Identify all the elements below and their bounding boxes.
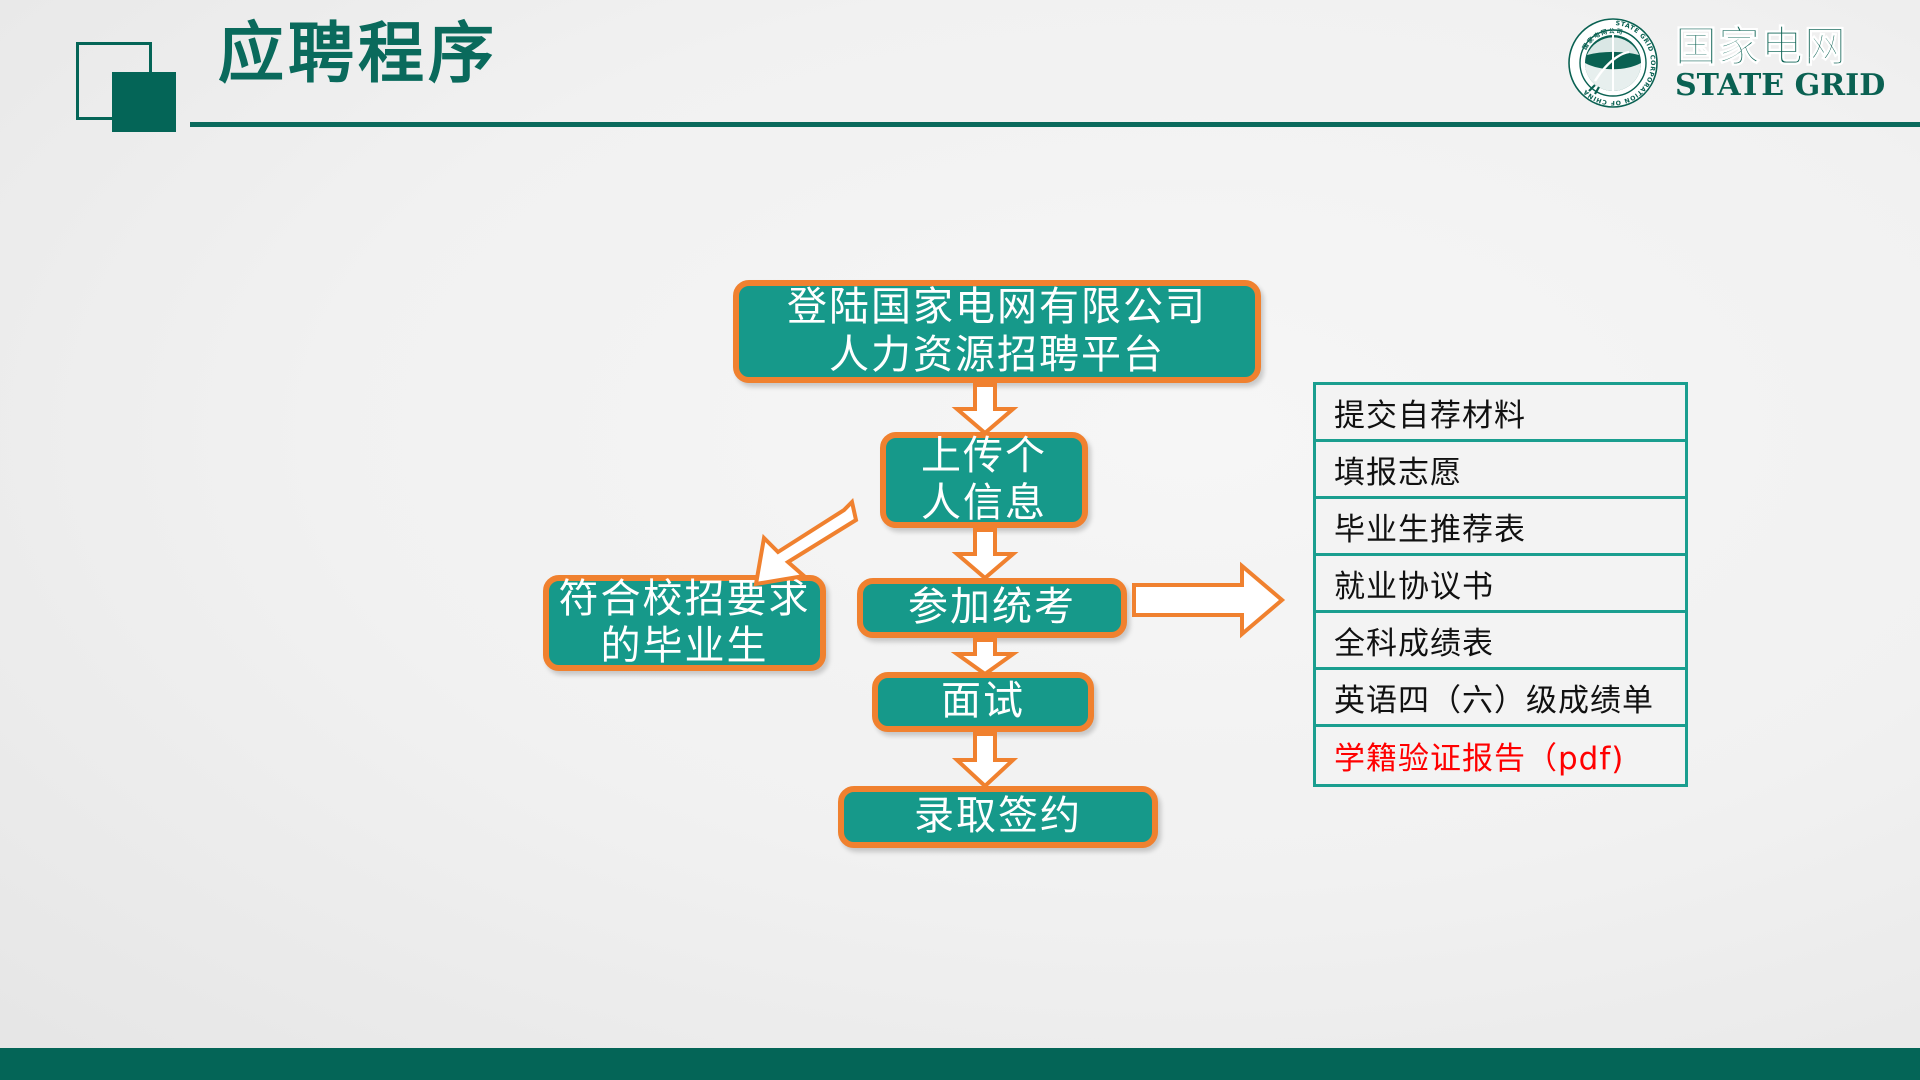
state-grid-wordmark: 国家电网 STATE GRID: [1675, 26, 1885, 101]
arrow-down-icon-2: [953, 528, 1017, 580]
table-row[interactable]: 毕业生推荐表: [1316, 499, 1685, 556]
flow-step-login-platform[interactable]: 登陆国家电网有限公司 人力资源招聘平台: [733, 280, 1261, 383]
flow-step-text-line2: 人力资源招聘平台: [787, 332, 1207, 379]
page-title: 应聘程序: [218, 20, 498, 86]
required-documents-table: 提交自荐材料 填报志愿 毕业生推荐表 就业协议书 全科成绩表 英语四（六）级成绩…: [1313, 382, 1688, 787]
flow-step-text-line1: 面试: [941, 678, 1025, 725]
table-row[interactable]: 填报志愿: [1316, 442, 1685, 499]
document-label-highlighted: 学籍验证报告（pdf): [1334, 733, 1624, 778]
document-label: 全科成绩表: [1334, 618, 1494, 663]
flow-step-text-line1: 上传个: [921, 433, 1047, 480]
flow-step-text-line2: 人信息: [921, 480, 1047, 527]
flow-step-unified-exam-text: 参加统考: [908, 584, 1076, 631]
table-row[interactable]: 提交自荐材料: [1316, 385, 1685, 442]
arrow-right-icon: [1132, 563, 1286, 637]
document-label: 英语四（六）级成绩单: [1334, 675, 1654, 720]
logo-wordmark-cn: 国家电网: [1675, 26, 1885, 68]
flow-step-interview-text: 面试: [941, 678, 1025, 725]
flow-step-interview[interactable]: 面试: [872, 672, 1094, 732]
document-label: 毕业生推荐表: [1334, 504, 1526, 549]
header-divider-rule: [190, 122, 1920, 127]
flow-step-text-line1: 录取签约: [914, 793, 1082, 840]
arrow-down-icon-1: [953, 383, 1017, 435]
table-row[interactable]: 英语四（六）级成绩单: [1316, 670, 1685, 727]
table-row[interactable]: 就业协议书: [1316, 556, 1685, 613]
arrow-diagonal-down-left-icon: [748, 498, 860, 590]
logo-wordmark-en: STATE GRID: [1675, 71, 1885, 101]
document-label: 提交自荐材料: [1334, 390, 1526, 435]
flow-step-text-line2: 的毕业生: [559, 623, 811, 670]
table-row[interactable]: 全科成绩表: [1316, 613, 1685, 670]
arrow-down-icon-4: [953, 732, 1017, 788]
document-label: 填报志愿: [1334, 447, 1462, 492]
header-decor-square-filled: [112, 72, 176, 132]
state-grid-logo: STATE GRID CORPORATION OF CHINA 国家电网公司 国…: [1565, 12, 1905, 114]
flow-step-upload-info[interactable]: 上传个 人信息: [880, 432, 1088, 528]
flow-step-text-line1: 登陆国家电网有限公司: [787, 284, 1207, 331]
flow-step-login-platform-text: 登陆国家电网有限公司 人力资源招聘平台: [787, 284, 1207, 378]
flow-step-offer-signing[interactable]: 录取签约: [838, 786, 1158, 848]
document-label: 就业协议书: [1334, 561, 1494, 606]
arrow-down-icon-3: [953, 638, 1017, 676]
flow-step-upload-info-text: 上传个 人信息: [921, 433, 1047, 527]
state-grid-emblem-icon: STATE GRID CORPORATION OF CHINA 国家电网公司: [1565, 15, 1661, 111]
flow-step-offer-signing-text: 录取签约: [914, 793, 1082, 840]
footer-bar: [0, 1048, 1920, 1080]
flow-step-text-line1: 参加统考: [908, 584, 1076, 631]
flow-step-unified-exam[interactable]: 参加统考: [857, 578, 1127, 638]
table-row[interactable]: 学籍验证报告（pdf): [1316, 727, 1685, 784]
slide-canvas: 应聘程序 STATE GRID CORPORATION OF CHINA: [0, 0, 1920, 1080]
